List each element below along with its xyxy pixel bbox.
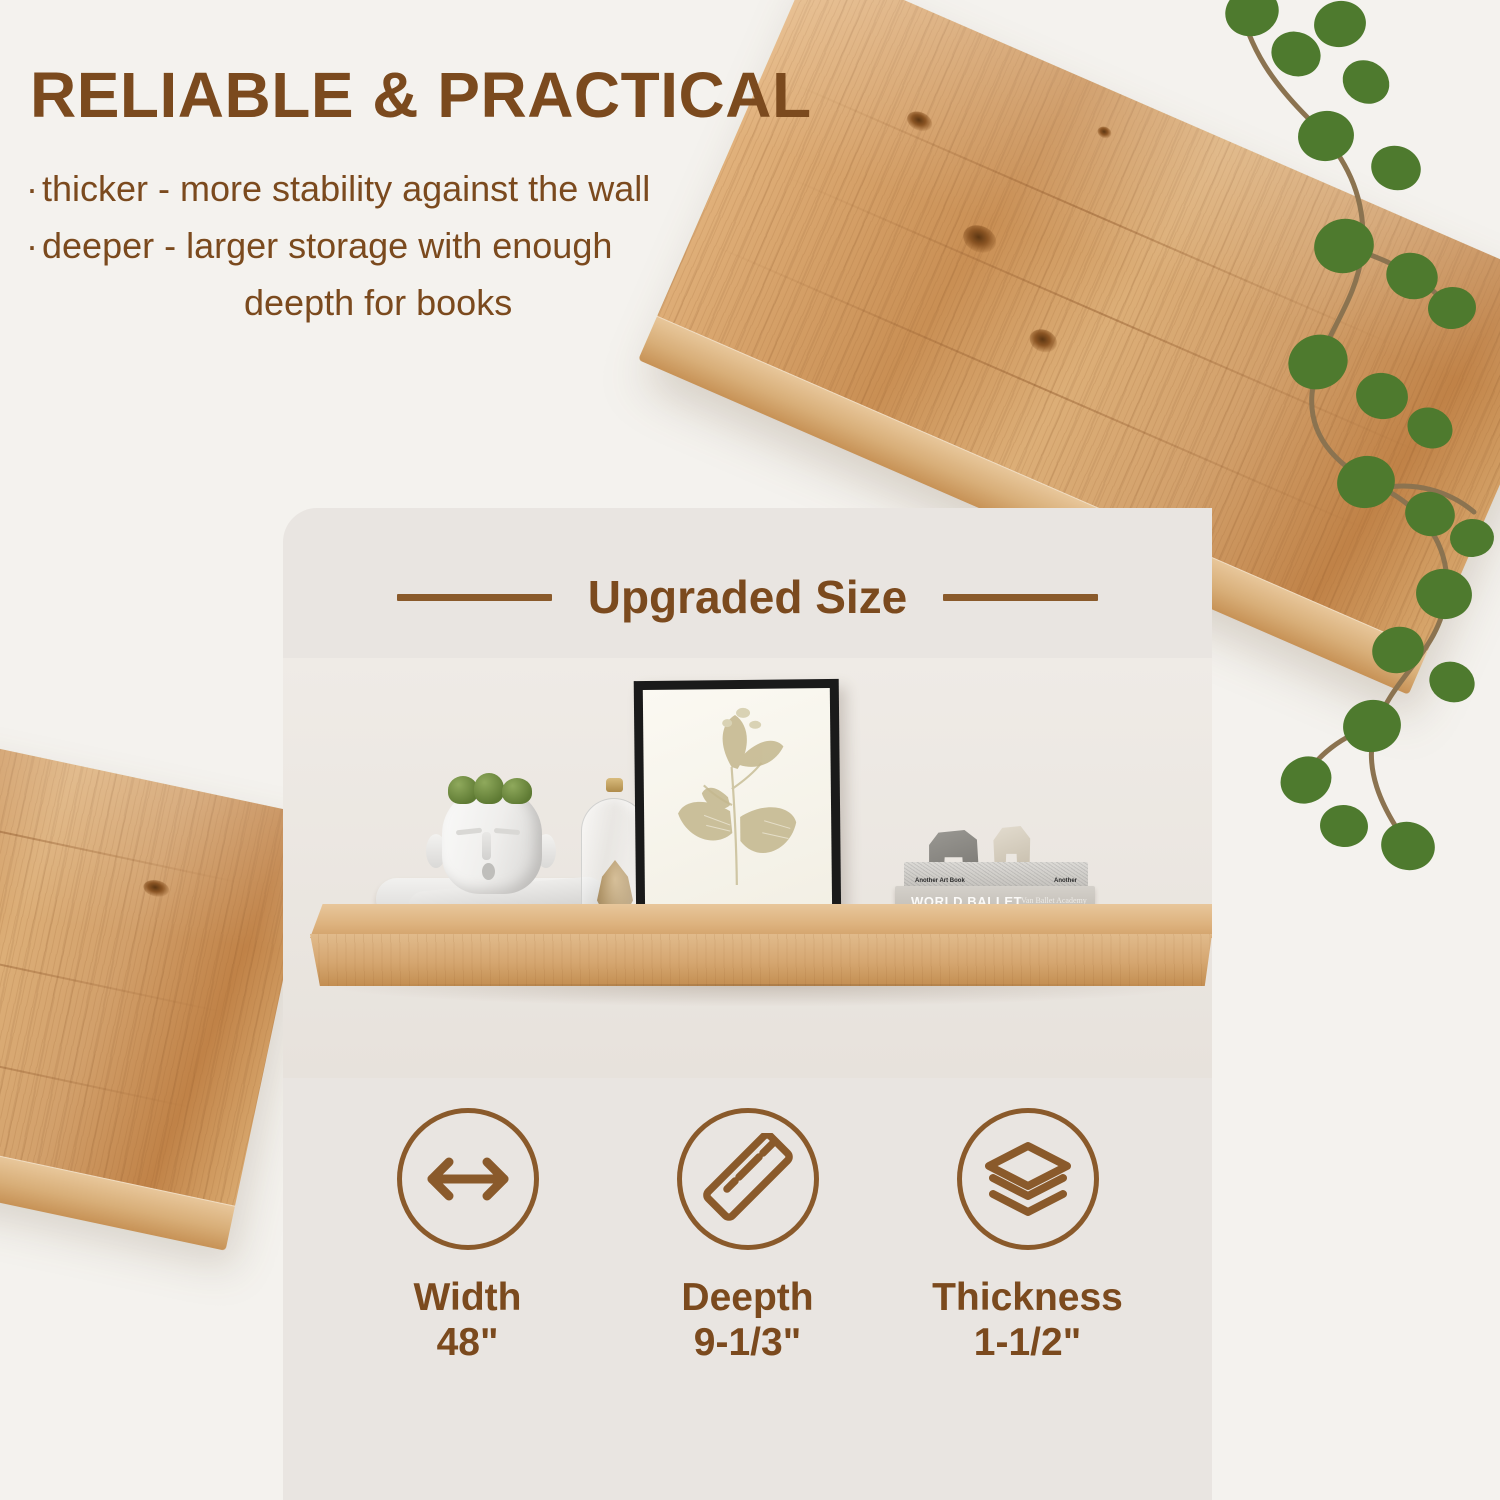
shelf-top-surface: [310, 904, 1212, 938]
section-header: Upgraded Size: [283, 570, 1212, 624]
floating-shelf-product: [310, 904, 1212, 990]
framed-botanical-print: [634, 679, 842, 929]
list-item: deepth for books: [26, 274, 650, 331]
bullet-text: deeper - larger storage with enough: [42, 225, 612, 266]
spec-row: Width 48" Deepth 9-1: [283, 1108, 1212, 1366]
shelf-front-edge: [310, 934, 1212, 986]
spec-label: Thickness: [920, 1276, 1136, 1320]
spec-value: 9-1/3": [640, 1320, 856, 1367]
wood-plank-left: [0, 700, 318, 1208]
wood-knot: [0, 926, 3, 959]
upgraded-size-panel: Upgraded Size: [283, 508, 1212, 1500]
planter-nose: [482, 832, 491, 860]
layers-icon: [983, 1140, 1073, 1218]
botanical-artwork: [643, 688, 832, 920]
shelf-drop-shadow: [328, 984, 1194, 1006]
ruler-icon: [702, 1133, 794, 1225]
spec-icon-frame: [397, 1108, 539, 1250]
wood-grain: [791, 82, 1397, 347]
book-top-left-text: Another Art Book: [915, 878, 965, 884]
print-mat: [643, 688, 832, 920]
spec-label: Width: [360, 1276, 576, 1320]
spec-icon-frame: [677, 1108, 819, 1250]
double-arrow-horizontal-icon: [425, 1155, 511, 1203]
section-title: Upgraded Size: [588, 570, 908, 624]
list-item: ·deeper - larger storage with enough: [26, 217, 650, 274]
shelf-lifestyle-scene: Another Art Book Another WORLD BALLET Va…: [283, 658, 1212, 1078]
wood-grain: [0, 907, 225, 1013]
succulent-plants: [448, 774, 536, 804]
page-title: RELIABLE & PRACTICAL: [30, 58, 812, 132]
spec-icon-frame: [957, 1108, 1099, 1250]
face-planter-decor: [398, 770, 583, 920]
spec-label: Deepth: [640, 1276, 856, 1320]
wood-knot: [904, 108, 935, 135]
spec-width: Width 48": [360, 1108, 576, 1366]
wood-knot: [959, 220, 1001, 257]
spec-depth: Deepth 9-1/3": [640, 1108, 856, 1366]
marketing-image-canvas: RELIABLE & PRACTICAL ·thicker - more sta…: [0, 0, 1500, 1500]
wood-knot: [142, 878, 171, 899]
wood-knot: [1096, 125, 1113, 141]
bullet-text: deepth for books: [244, 282, 512, 323]
spec-value: 48": [360, 1320, 576, 1367]
divider-right: [943, 594, 1098, 601]
spec-thickness: Thickness 1-1/2": [920, 1108, 1136, 1366]
wood-knot: [1026, 325, 1060, 356]
book-top-right-text: Another: [1054, 878, 1077, 884]
list-item: ·thicker - more stability against the wa…: [26, 160, 650, 217]
wood-grain: [0, 782, 242, 884]
bullet-marker: ·: [26, 160, 42, 217]
bullet-text: thicker - more stability against the wal…: [42, 168, 650, 209]
bullet-marker: ·: [26, 217, 42, 274]
planter-mouth: [482, 863, 495, 880]
feature-bullet-list: ·thicker - more stability against the wa…: [26, 160, 650, 331]
wood-grain: [0, 1009, 195, 1109]
divider-left: [397, 594, 552, 601]
plank-face: [0, 700, 318, 1208]
spec-value: 1-1/2": [920, 1320, 1136, 1367]
cloche-knob: [606, 778, 623, 792]
